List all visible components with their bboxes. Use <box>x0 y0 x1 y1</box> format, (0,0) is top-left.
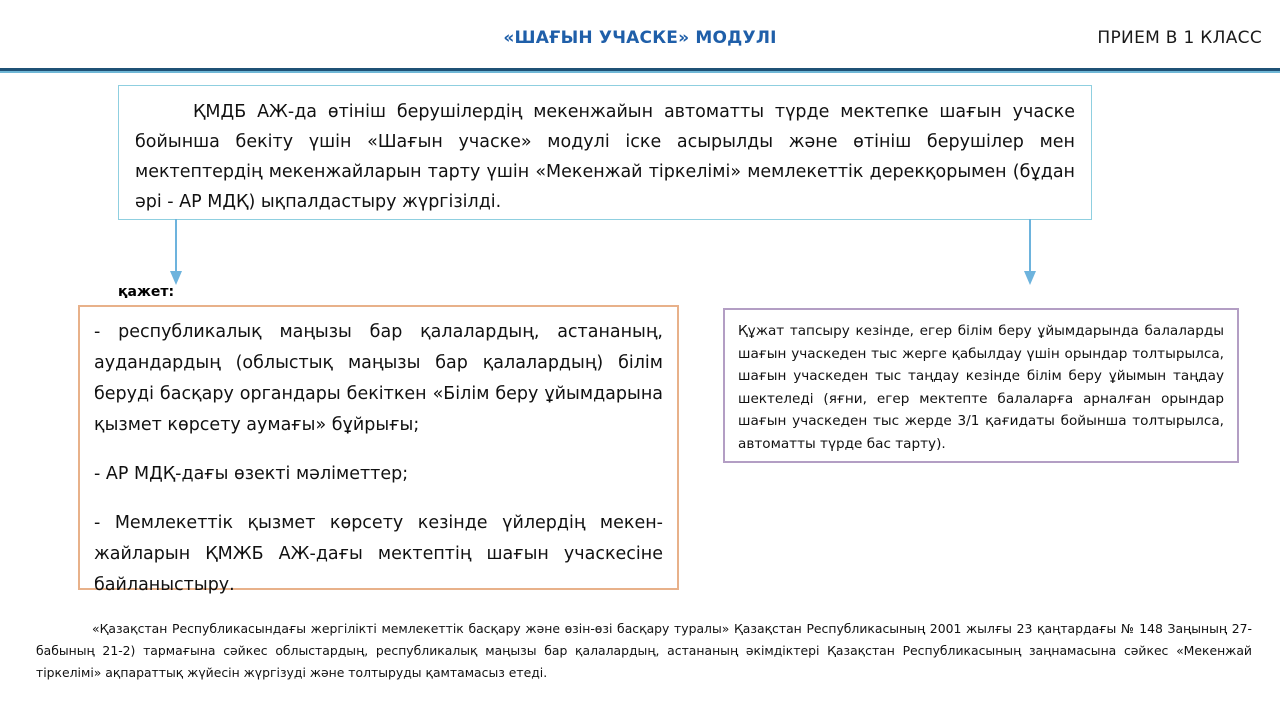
arrow-down-left <box>168 219 184 287</box>
arrow-down-right <box>1022 219 1038 287</box>
note-box: Құжат тапсыру кезінде, егер білім беру ұ… <box>723 308 1239 463</box>
top-statement-box: ҚМДБ АЖ-да өтініш берушілердің мекенжайы… <box>118 85 1092 220</box>
header-section-label: ПРИЕМ В 1 КЛАСС <box>1097 28 1262 48</box>
needed-label: қажет: <box>118 284 174 300</box>
requirement-item: - АР МДҚ-дағы өзекті мәліметтер; <box>94 459 663 490</box>
footnote-text: «Қазақстан Республикасындағы жергілікті … <box>36 618 1252 684</box>
header-divider-light <box>0 71 1280 73</box>
requirement-item: - Мемлекеттік қызмет көрсету кезінде үйл… <box>94 508 663 601</box>
top-statement-text: ҚМДБ АЖ-да өтініш берушілердің мекенжайы… <box>135 97 1075 217</box>
requirement-item: - республикалық маңызы бар қалалардың, а… <box>94 317 663 441</box>
page-title: «ШАҒЫН УЧАСКЕ» МОДУЛІ <box>0 28 1280 48</box>
note-text: Құжат тапсыру кезінде, егер білім беру ұ… <box>738 320 1224 455</box>
requirements-box: - республикалық маңызы бар қалалардың, а… <box>78 305 679 590</box>
slide-header: «ШАҒЫН УЧАСКЕ» МОДУЛІ ПРИЕМ В 1 КЛАСС <box>0 0 1280 68</box>
